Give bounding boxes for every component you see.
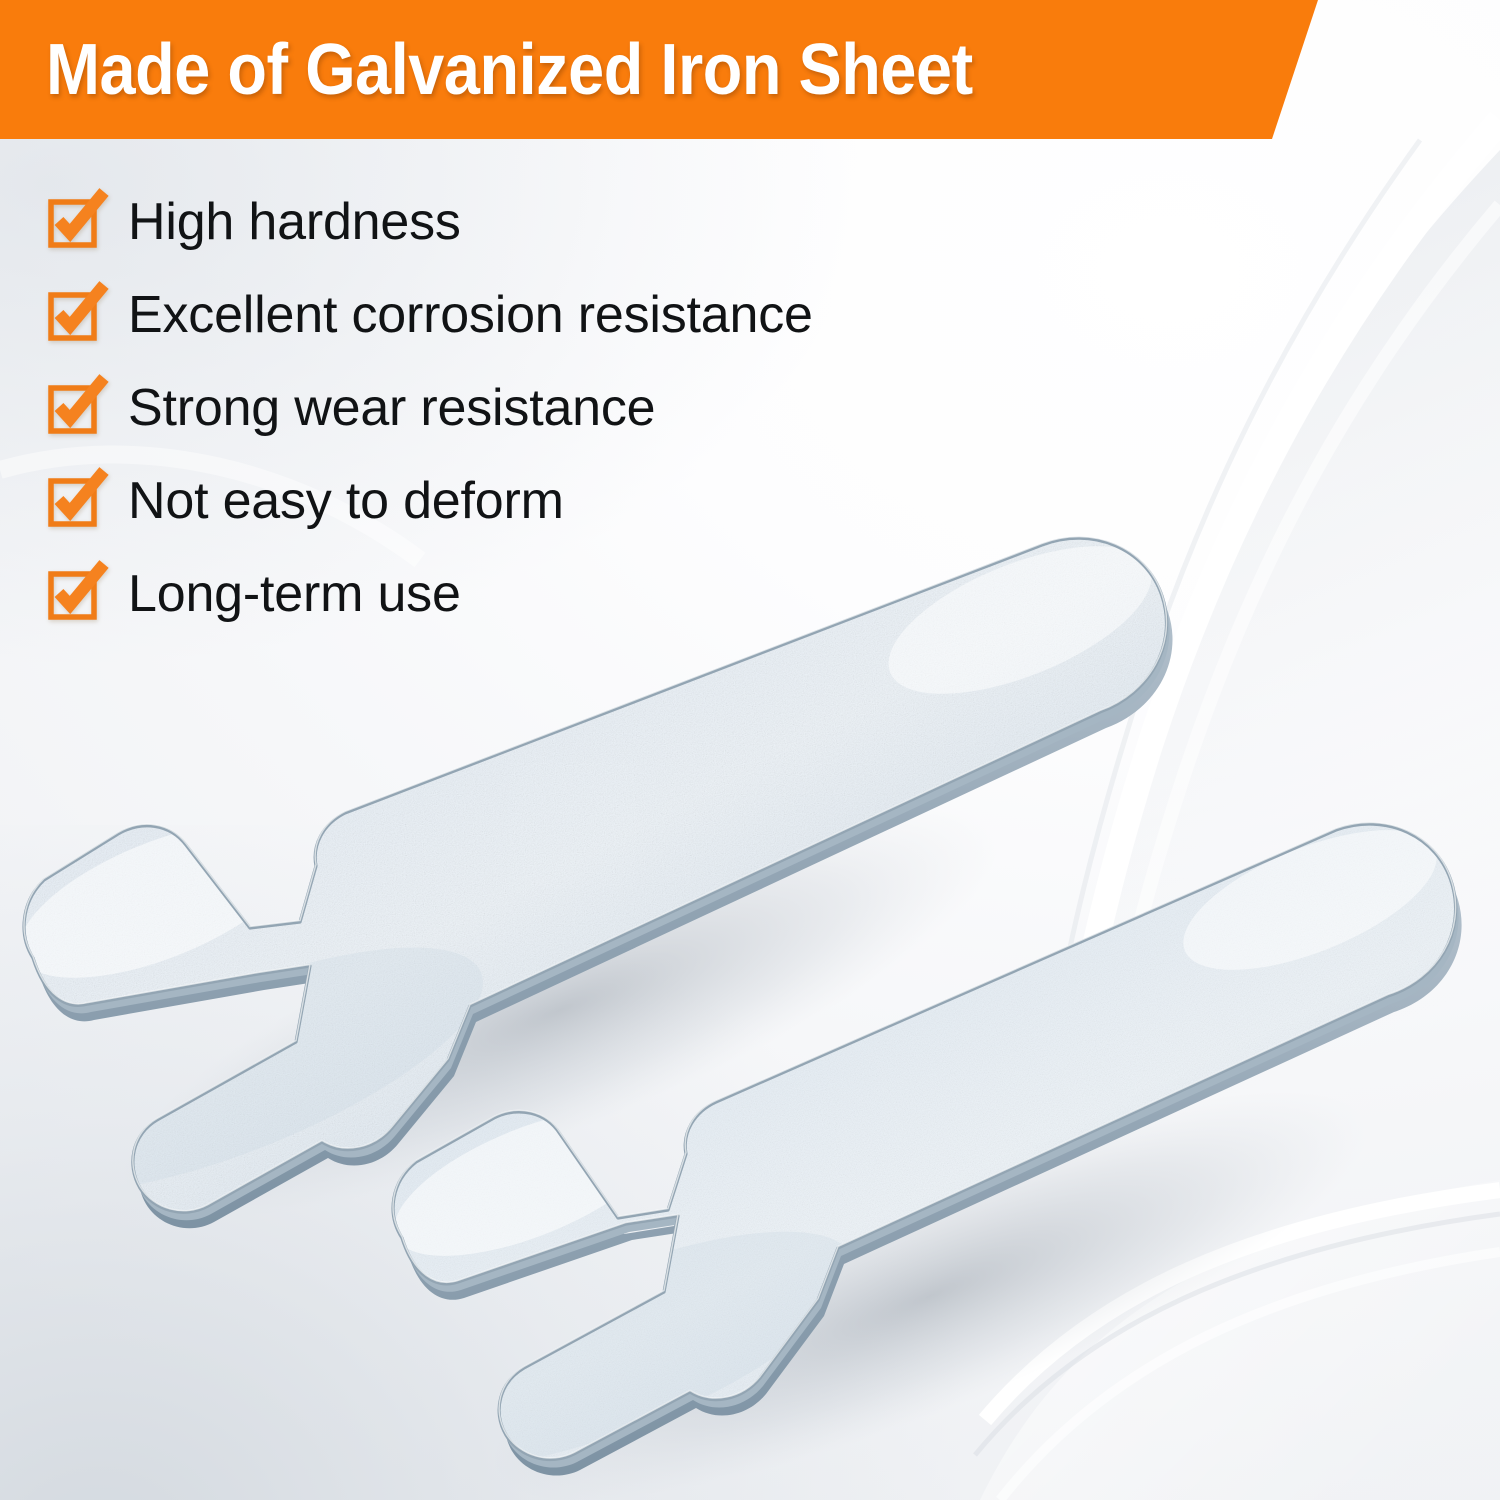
- checkbox-checked-icon: [50, 200, 96, 246]
- checkbox-checked-icon: [50, 293, 96, 339]
- list-item: Excellent corrosion resistance: [50, 269, 1050, 362]
- product-feature-panel: Made of Galvanized Iron Sheet: [0, 0, 1500, 1500]
- checkbox-checked-icon: [50, 479, 96, 525]
- list-item: Not easy to deform: [50, 455, 1050, 548]
- list-item-label: Long-term use: [128, 568, 461, 620]
- feature-list: High hardness Excellent corrosion resist…: [50, 176, 1050, 641]
- list-item-label: Excellent corrosion resistance: [128, 289, 813, 341]
- list-item-label: Not easy to deform: [128, 475, 564, 527]
- list-item: Strong wear resistance: [50, 362, 1050, 455]
- checkbox-checked-icon: [50, 572, 96, 618]
- list-item-label: High hardness: [128, 196, 461, 248]
- checkbox-checked-icon: [50, 386, 96, 432]
- list-item: High hardness: [50, 176, 1050, 269]
- list-item-label: Strong wear resistance: [128, 382, 655, 434]
- list-item: Long-term use: [50, 548, 1050, 641]
